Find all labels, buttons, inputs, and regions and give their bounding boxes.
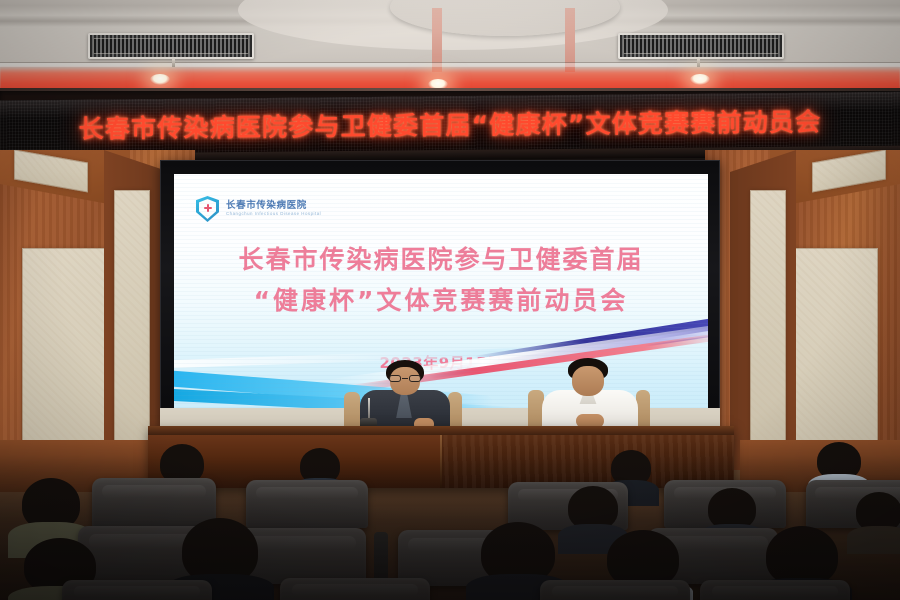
microphone: [365, 398, 372, 428]
seat: [62, 580, 212, 600]
hvac-vent-right: [618, 33, 784, 59]
eyeglasses-icon: [389, 375, 421, 382]
seat: [280, 578, 430, 600]
logo-name-cn: 长春市传染病医院: [226, 201, 321, 211]
fascia-highlight: [0, 88, 900, 91]
audience: [0, 430, 900, 600]
downlight-right: [690, 74, 710, 85]
shield-cross-icon: [196, 196, 219, 222]
seat: [700, 580, 850, 600]
hvac-vent-left: [88, 33, 254, 59]
conference-hall-photo: 长春市传染病医院参与卫健委首届“健康杯”文体竞赛赛前动员会 长春市传: [0, 0, 900, 600]
sprinkler-head-right: [697, 58, 700, 67]
audience-member: [850, 492, 900, 552]
ceiling: [0, 0, 900, 96]
seat: [540, 580, 690, 600]
slide-title-line1: 长春市传染病医院参与卫健委首届: [174, 240, 708, 281]
led-banner-text: 长春市传染病医院参与卫健委首届“健康杯”文体竞赛赛前动员会: [0, 102, 900, 147]
downlight-left: [150, 74, 170, 85]
wall-panel-return-right: [750, 190, 786, 466]
hospital-logo: 长春市传染病医院 Changchun Infectious Disease Ho…: [196, 196, 321, 222]
wall-panel-right-upper: [812, 149, 886, 192]
wall-panel-left-upper: [14, 149, 88, 192]
sprinkler-head-left: [172, 58, 175, 67]
slide-title: 长春市传染病医院参与卫健委首届 “健康杯”文体竞赛赛前动员会: [174, 240, 708, 321]
slide-title-line2: “健康杯”文体竞赛赛前动员会: [174, 281, 708, 322]
speaker-right: [538, 358, 642, 432]
logo-name-en: Changchun Infectious Disease Hospital: [226, 212, 321, 217]
wall-panel-return-left: [114, 190, 150, 466]
